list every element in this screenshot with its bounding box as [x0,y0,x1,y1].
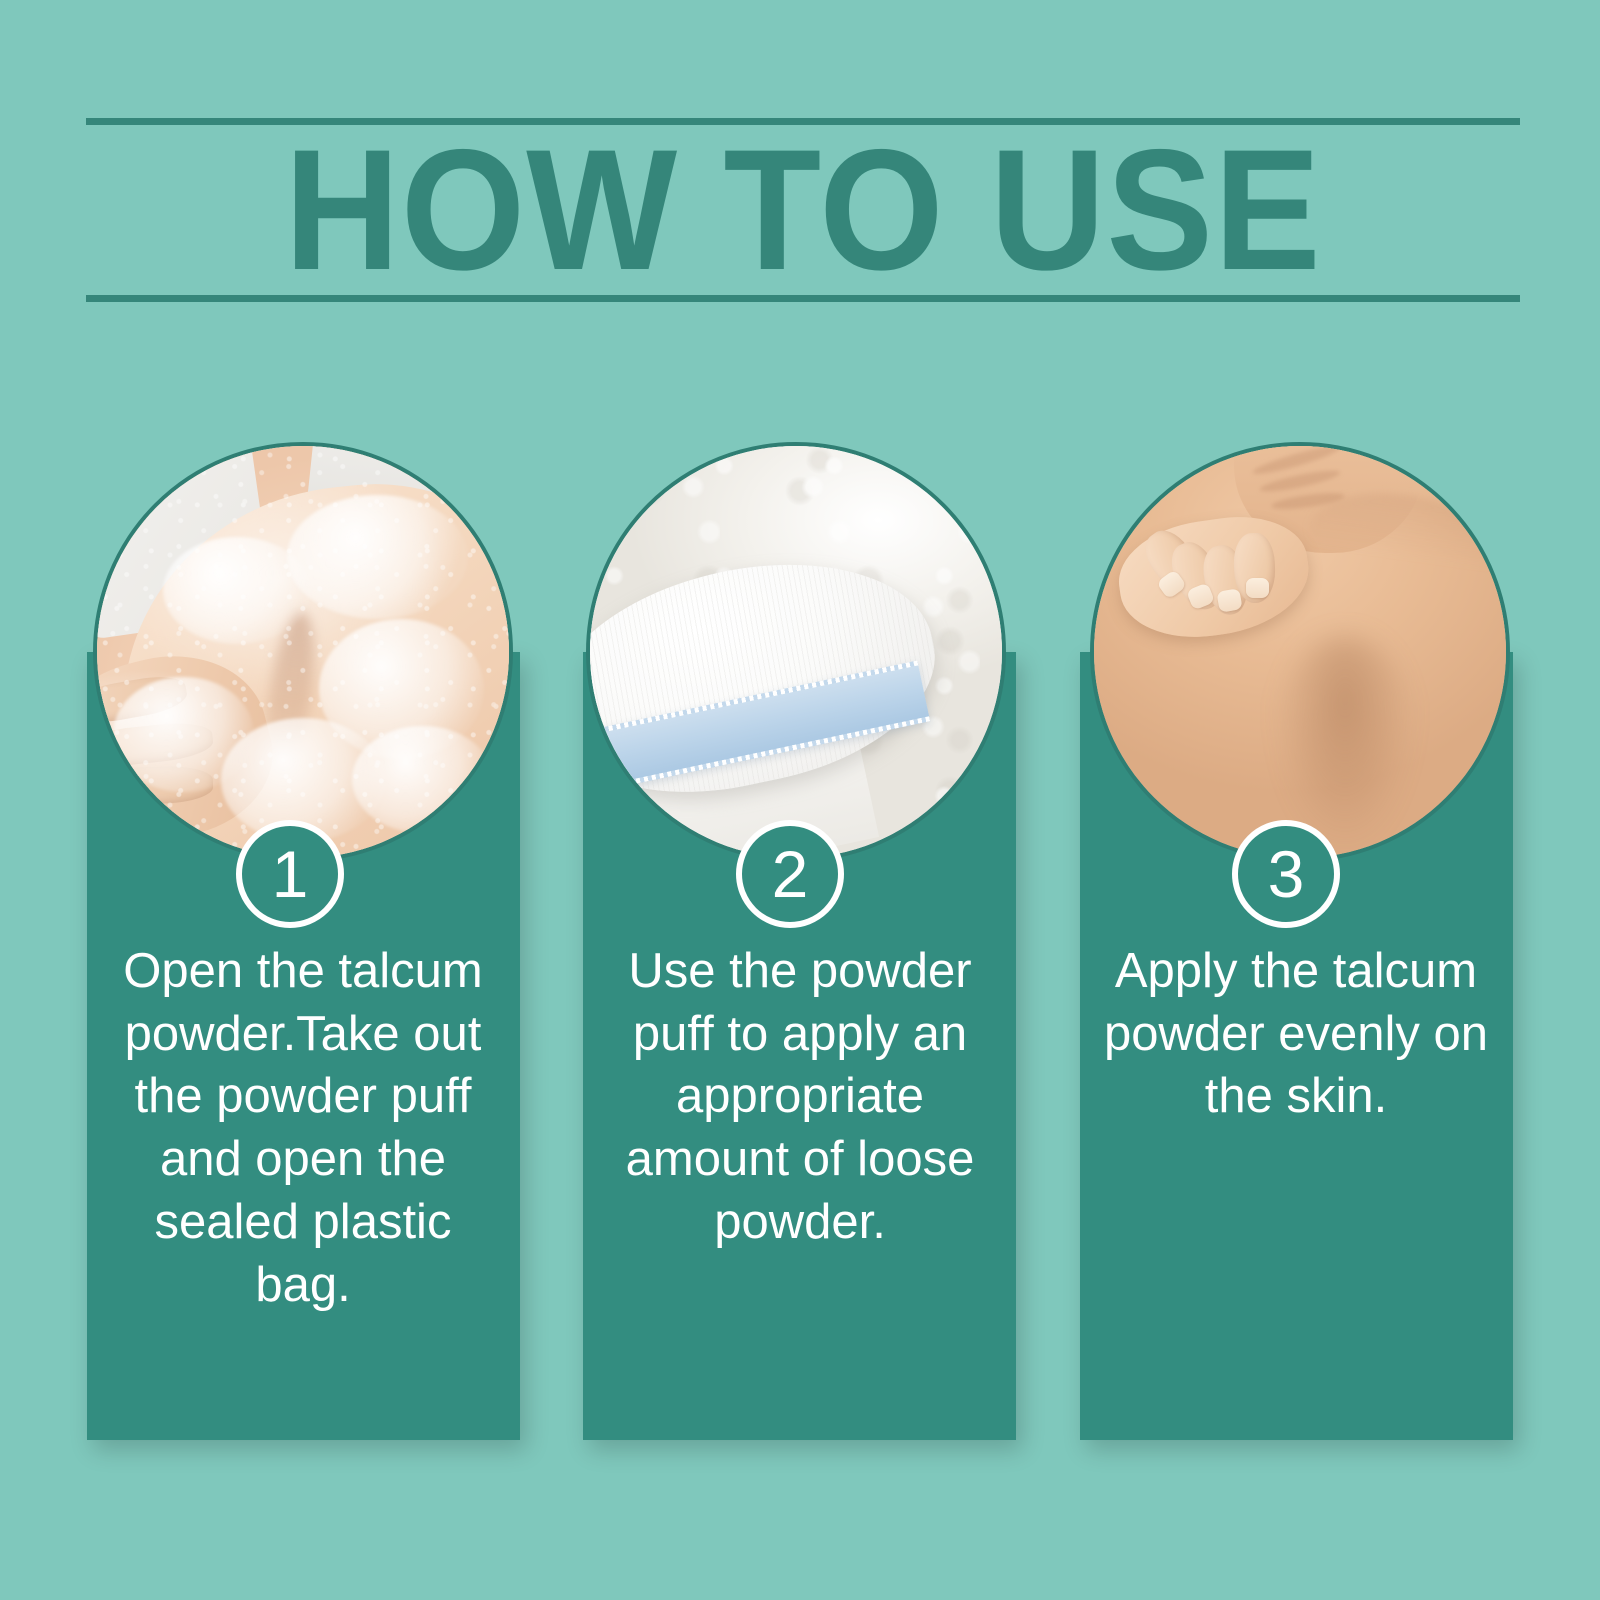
step-3-photo [1090,442,1510,862]
step-number-badge-3: 3 [1232,820,1340,928]
step-number-badge-2: 2 [736,820,844,928]
steps-container: 1 2 3 Open the talcum powder.Take out th… [0,0,1600,1600]
step-2-description: Use the powder puff to apply an appropri… [600,940,1000,1254]
step-1-photo [93,442,513,862]
step-2-photo [586,442,1006,862]
step-1-description: Open the talcum powder.Take out the powd… [103,940,503,1316]
step-number-badge-1: 1 [236,820,344,928]
step-3-description: Apply the talcum powder evenly on the sk… [1096,940,1496,1128]
